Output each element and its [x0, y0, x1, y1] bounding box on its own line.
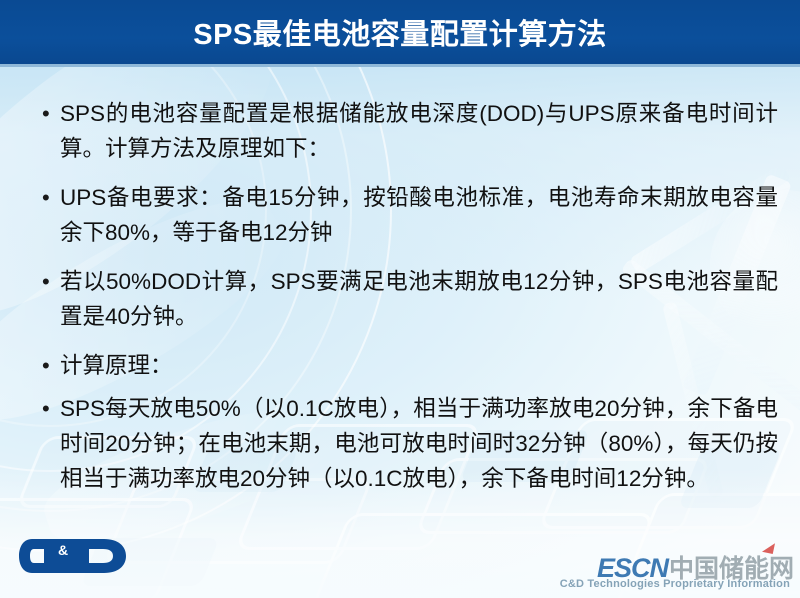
bullet-marker-icon: •: [36, 264, 60, 299]
bullet-marker-icon: •: [36, 348, 60, 383]
list-item: • 若以50%DOD计算，SPS要满足电池末期放电12分钟，SPS电池容量配置是…: [36, 264, 778, 334]
watermark-brand: ESCN: [597, 553, 668, 584]
bullet-text: UPS备电要求：备电15分钟，按铅酸电池标准，电池寿命末期放电容量余下80%，等…: [60, 180, 778, 250]
bullet-marker-icon: •: [36, 391, 60, 426]
cd-logo-icon: &: [18, 537, 134, 575]
bullet-text: 计算原理：: [60, 348, 778, 383]
list-item: • UPS备电要求：备电15分钟，按铅酸电池标准，电池寿命末期放电容量余下80%…: [36, 180, 778, 250]
slide-canvas: SPS最佳电池容量配置计算方法 • SPS的电池容量配置是根据储能放电深度(DO…: [0, 0, 800, 598]
escn-watermark: ESCN 中国储能网: [597, 549, 794, 585]
cd-logo: &: [18, 537, 134, 580]
bullet-text: SPS每天放电50%（以0.1C放电），相当于满功率放电20分钟，余下备电时间2…: [60, 391, 778, 496]
bullet-text: 若以50%DOD计算，SPS要满足电池末期放电12分钟，SPS电池容量配置是40…: [60, 264, 778, 334]
page-title: SPS最佳电池容量配置计算方法: [193, 11, 607, 53]
bullet-marker-icon: •: [36, 96, 60, 131]
list-item: • 计算原理：: [36, 348, 778, 383]
slide-body: • SPS的电池容量配置是根据储能放电深度(DOD)与UPS原来备电时间计算。计…: [36, 96, 778, 510]
list-item: • SPS每天放电50%（以0.1C放电），相当于满功率放电20分钟，余下备电时…: [36, 391, 778, 496]
svg-text:&: &: [58, 542, 68, 558]
list-item: • SPS的电池容量配置是根据储能放电深度(DOD)与UPS原来备电时间计算。计…: [36, 96, 778, 166]
watermark-red-tick-icon: [762, 541, 775, 554]
bullet-text: SPS的电池容量配置是根据储能放电深度(DOD)与UPS原来备电时间计算。计算方…: [60, 96, 778, 166]
slide-title-bar: SPS最佳电池容量配置计算方法: [0, 0, 800, 67]
bullet-marker-icon: •: [36, 180, 60, 215]
watermark-chinese-name: 中国储能网: [669, 549, 794, 585]
